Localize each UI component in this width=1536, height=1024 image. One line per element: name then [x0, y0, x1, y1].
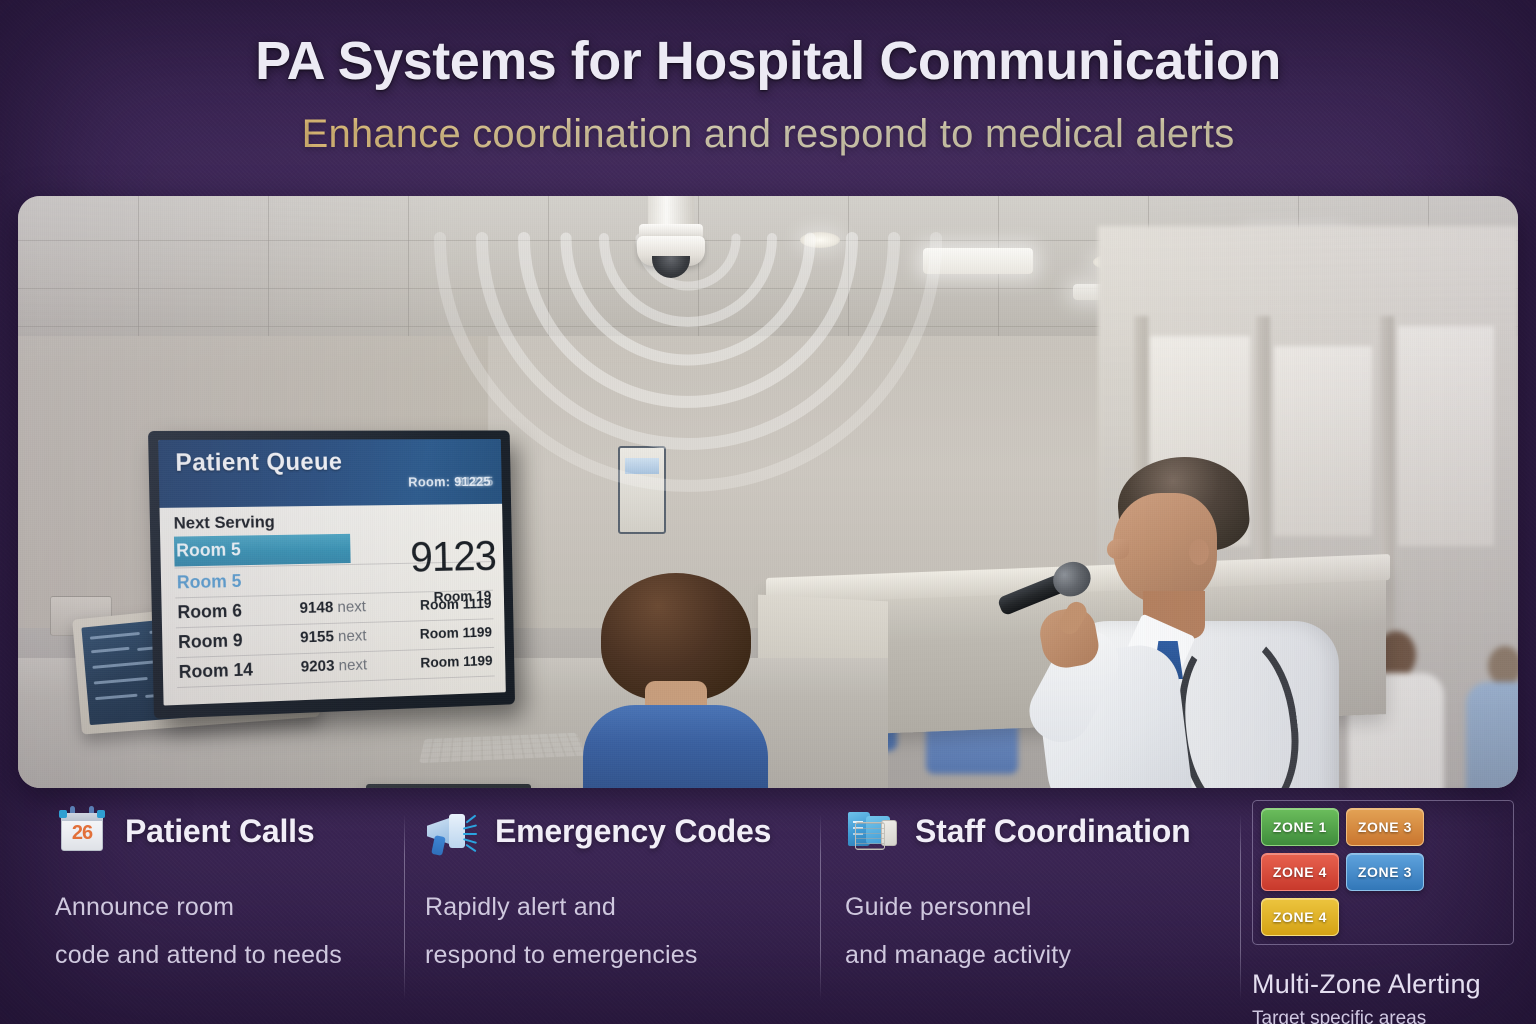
queue-title: Patient Queue	[175, 448, 343, 478]
multi-zone-alerting-panel: ZONE 1 ZONE 3 ZONE 4 ZONE 3 ZONE 4 Multi…	[1252, 800, 1522, 1024]
zone-badge-grid: ZONE 1 ZONE 3 ZONE 4 ZONE 3 ZONE 4	[1252, 800, 1514, 945]
feature-desc-line2: code and attend to needs	[55, 932, 395, 980]
zone-badge-2[interactable]: ZONE 3	[1346, 808, 1424, 846]
queue-featured-ticket: 9123	[410, 532, 497, 582]
queue-room-label: Room:	[408, 474, 450, 490]
hospital-scene-photo: Patient Queue Room: 91225 Next Serving R…	[18, 196, 1518, 788]
ceiling-light-panel	[923, 248, 1033, 274]
zones-sub-line1: Target specific areas	[1252, 1006, 1522, 1024]
queue-row-room: Room 14	[179, 660, 254, 683]
zones-subtitle: Target specific areas for relevant updat…	[1252, 1006, 1522, 1024]
feature-strip: 26 Patient Calls Announce room code and …	[0, 800, 1536, 1024]
feature-desc-line1: Guide personnel	[845, 884, 1245, 932]
queue-row-room: Room 6	[177, 601, 242, 624]
queue-room-indicator: Room: 91225	[408, 473, 491, 489]
feature-title: Emergency Codes	[495, 813, 771, 850]
feature-title: Patient Calls	[125, 813, 314, 850]
zone-badge-4[interactable]: ZONE 3	[1346, 853, 1424, 891]
page-title: PA Systems for Hospital Communication	[0, 30, 1536, 92]
queue-row-ticket: 9155	[300, 629, 334, 647]
queue-body: Next Serving Room 5 Room 5 Room 6 9148 n…	[160, 504, 506, 706]
seated-staff-member	[583, 573, 768, 788]
queue-row-room: Room 5	[177, 571, 242, 593]
workstation-monitor-primary	[366, 784, 531, 788]
queue-room-value: 91225	[454, 473, 491, 489]
feature-description: Guide personnel and manage activity	[845, 884, 1245, 979]
patient-queue-display: Patient Queue Room: 91225 Next Serving R…	[148, 430, 515, 718]
wall-chart-holder	[618, 446, 666, 534]
queue-row-next: next	[337, 599, 366, 616]
zone-badge-5[interactable]: ZONE 4	[1261, 898, 1339, 936]
queue-row-ticket: 9203	[301, 658, 335, 676]
queue-row-right: Room 1199	[420, 653, 493, 672]
queue-row-next: next	[339, 657, 368, 675]
queue-row-next: next	[338, 628, 367, 645]
downlight	[800, 232, 840, 248]
queue-header: Patient Queue Room: 91225	[158, 439, 502, 508]
queue-featured-room: Room 19	[433, 588, 491, 606]
queue-row-room: Room 9	[178, 630, 243, 653]
documents-stack-icon	[845, 806, 899, 856]
feature-desc-line2: and manage activity	[845, 932, 1245, 980]
ceiling-pa-speaker	[631, 196, 711, 286]
queue-row-ticket: 9148	[299, 599, 333, 616]
megaphone-icon	[425, 806, 479, 856]
feature-title: Staff Coordination	[915, 813, 1190, 850]
background-staff-figure	[1466, 646, 1518, 788]
calendar-badge-number: 26	[55, 822, 109, 845]
feature-patient-calls[interactable]: 26 Patient Calls Announce room code and …	[55, 800, 395, 979]
queue-row-right: Room 1199	[420, 624, 493, 642]
zone-badge-1[interactable]: ZONE 1	[1261, 808, 1339, 846]
feature-desc-line2: respond to emergencies	[425, 932, 825, 980]
zones-title: Multi-Zone Alerting	[1252, 969, 1522, 1000]
feature-description: Rapidly alert and respond to emergencies	[425, 884, 825, 979]
feature-staff-coordination[interactable]: Staff Coordination Guide personnel and m…	[845, 800, 1245, 979]
queue-next-serving-label: Next Serving	[173, 510, 491, 534]
page-subtitle: Enhance coordination and respond to medi…	[0, 112, 1536, 157]
feature-description: Announce room code and attend to needs	[55, 884, 395, 979]
feature-divider	[404, 814, 405, 1000]
zone-badge-3[interactable]: ZONE 4	[1261, 853, 1339, 891]
poster-header: PA Systems for Hospital Communication En…	[0, 0, 1536, 157]
doctor-with-microphone	[1003, 451, 1348, 788]
feature-desc-line1: Rapidly alert and	[425, 884, 825, 932]
feature-desc-line1: Announce room	[55, 884, 395, 932]
feature-emergency-codes[interactable]: Emergency Codes Rapidly alert and respon…	[425, 800, 825, 979]
calendar-26-icon: 26	[55, 806, 109, 856]
queue-row-room: Room 5	[176, 540, 241, 562]
